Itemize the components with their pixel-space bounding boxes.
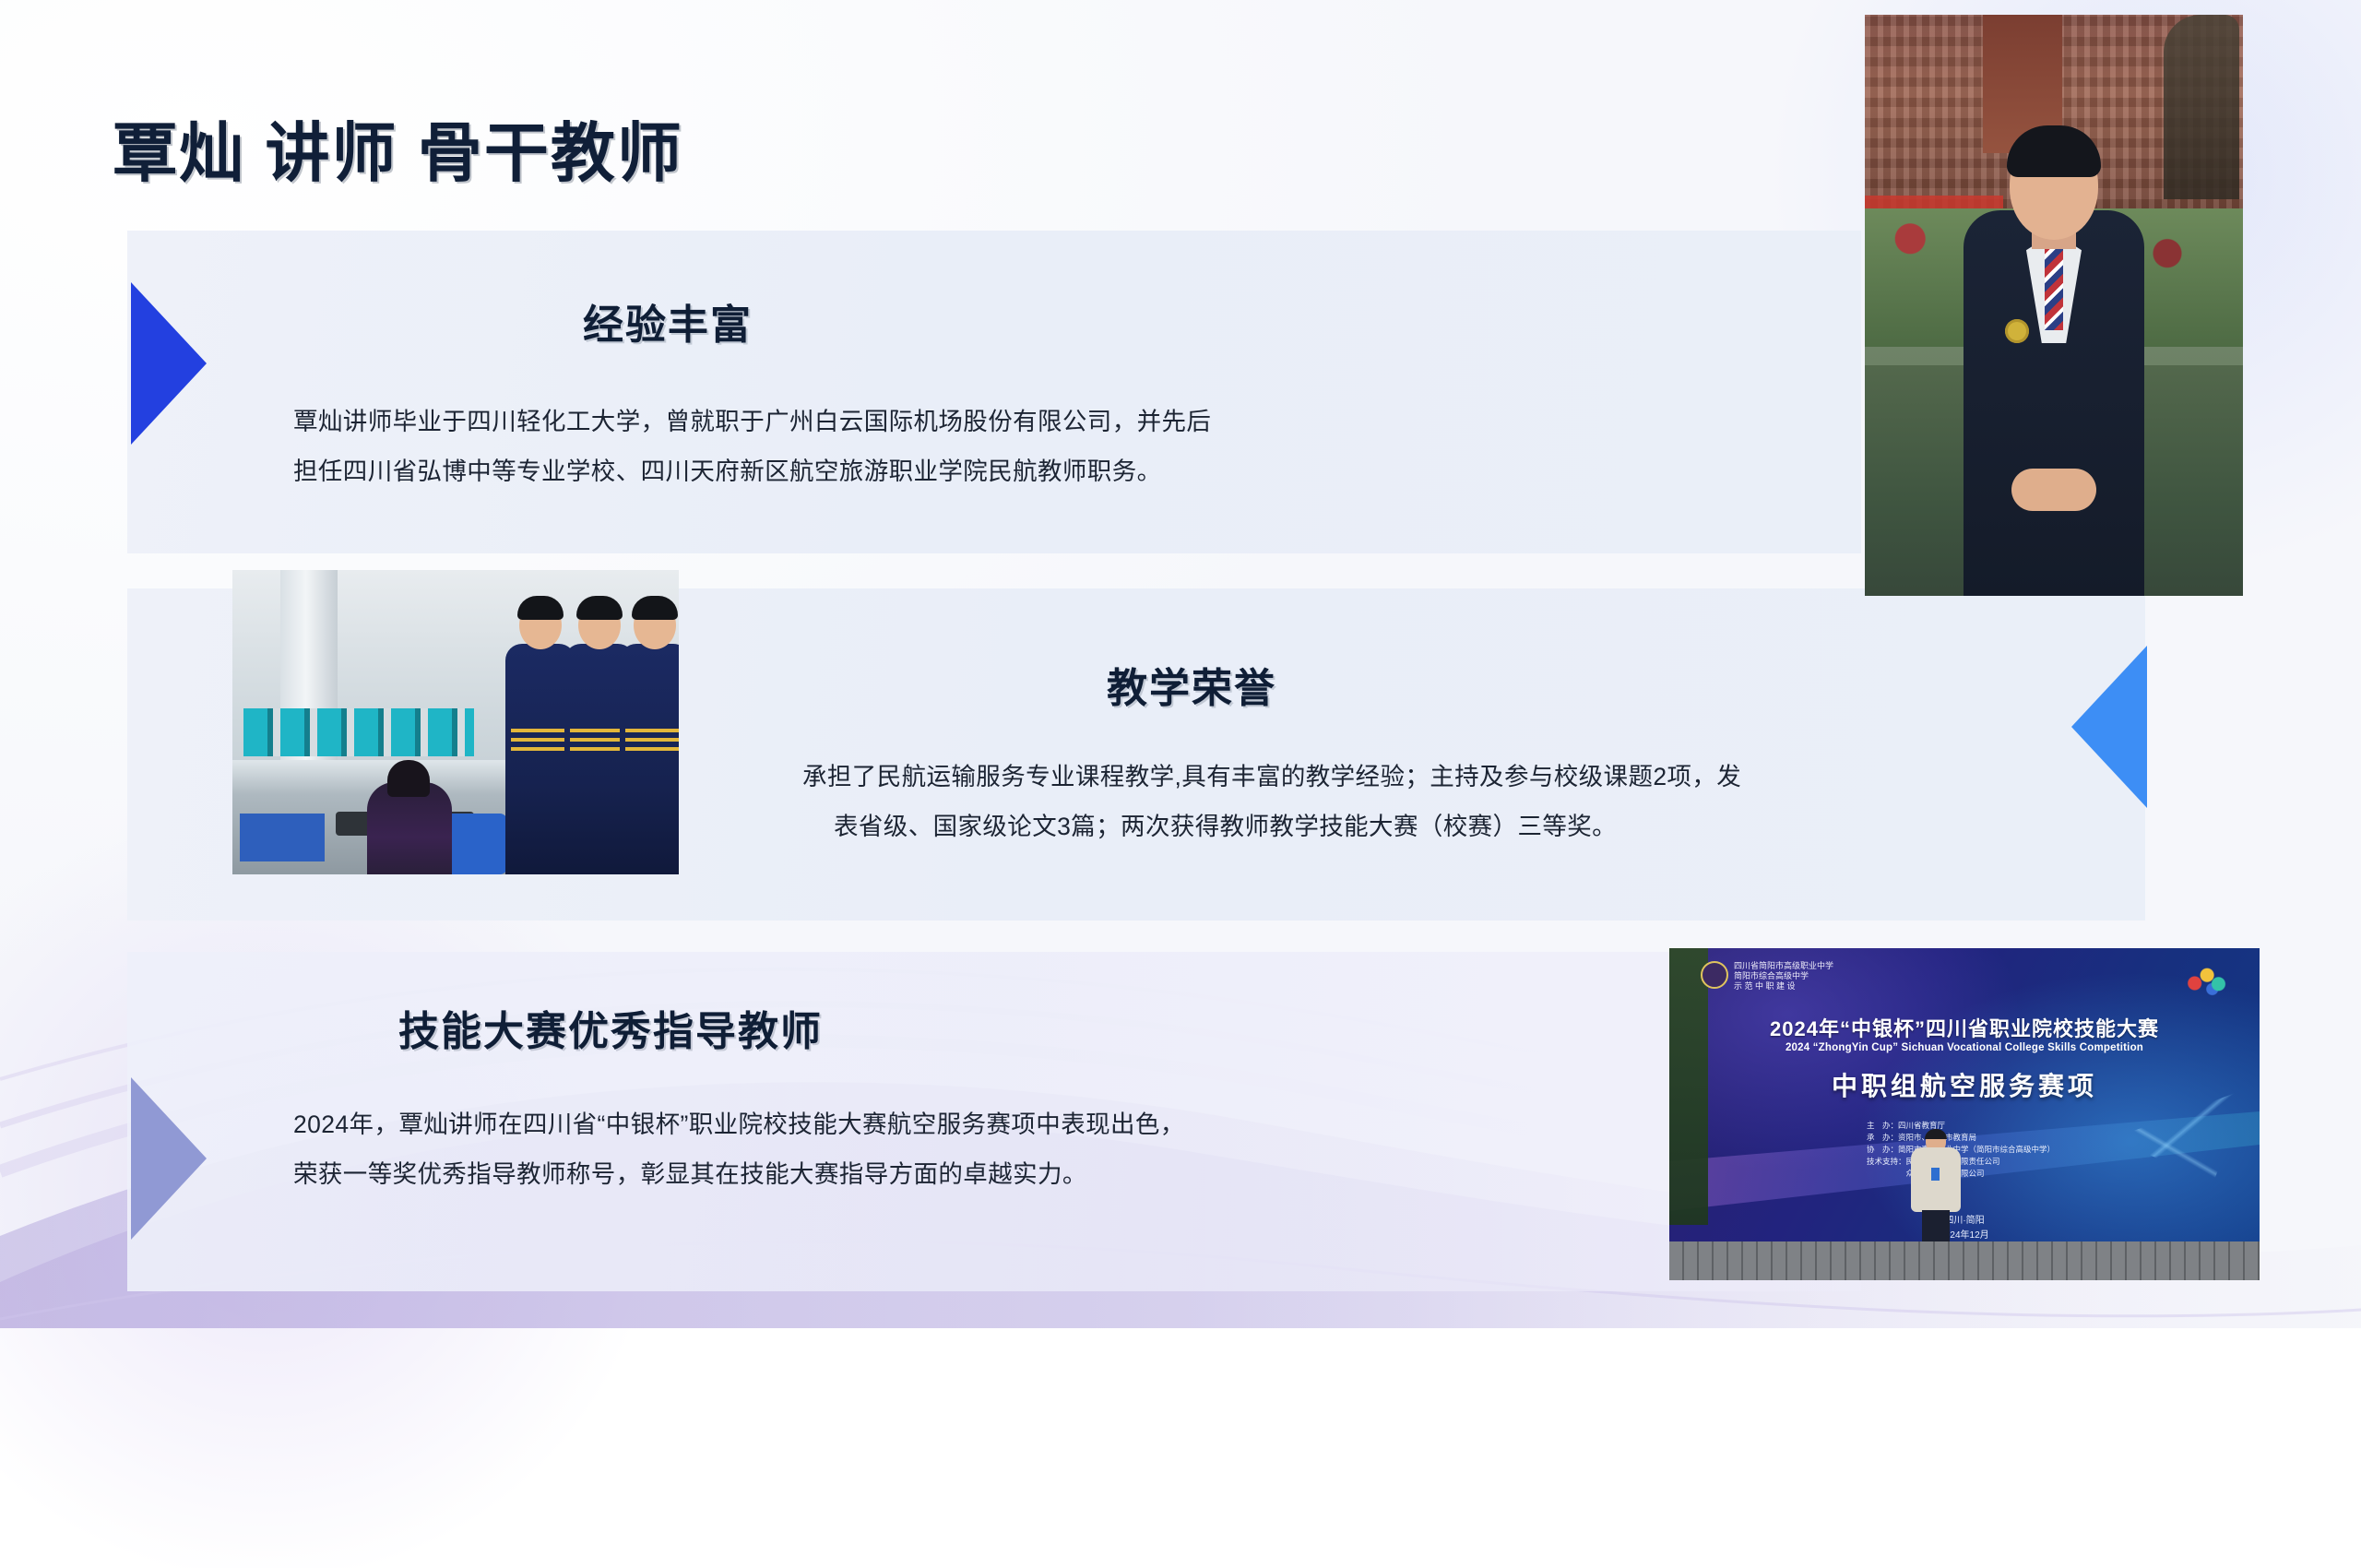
credit-line: 协 办：简阳市高级职业中学（简阳市综合高级中学）	[1867, 1144, 2055, 1156]
body-line: 表省级、国家级论文3篇；两次获得教师教学技能大赛（校赛）三等奖。	[834, 802, 1741, 851]
section-body-experience: 覃灿讲师毕业于四川轻化工大学，曾就职于广州白云国际机场股份有限公司，并先后 担任…	[293, 397, 1211, 496]
banner-title-en: 2024 “ZhongYin Cup” Sichuan Vocational C…	[1669, 1042, 2260, 1053]
body-line: 2024年，覃灿讲师在四川省“中银杯”职业院校技能大赛航空服务赛项中表现出色，	[293, 1099, 1185, 1149]
body-line: 承担了民航运输服务专业课程教学,具有丰富的教学经验；主持及参与校级课题2项，发	[802, 752, 1741, 802]
portrait-necktie	[2045, 245, 2063, 330]
section-body-teaching-honors: 承担了民航运输服务专业课程教学,具有丰富的教学经验；主持及参与校级课题2项，发 …	[802, 752, 1741, 851]
body-line: 覃灿讲师毕业于四川轻化工大学，曾就职于广州白云国际机场股份有限公司，并先后	[293, 397, 1211, 446]
banner-credits: 主 办：四川省教育厅 承 办：资阳市、成都市教育局 协 办：简阳市高级职业中学（…	[1867, 1120, 2055, 1180]
banner-title-cn: 2024年“中银杯”四川省职业院校技能大赛	[1669, 1013, 2260, 1042]
portrait-statue	[2164, 15, 2239, 199]
triangle-right-blue-icon	[131, 282, 207, 445]
page-title: 覃灿 讲师 骨干教师	[113, 101, 683, 195]
banner-location-date: 四川·简阳 2024年12月	[1669, 1214, 2260, 1243]
credit-line: 主 办：四川省教育厅	[1867, 1120, 2055, 1132]
body-line: 担任四川省弘博中等专业学校、四川天府新区航空旅游职业学院民航教师职务。	[293, 446, 1211, 496]
section-heading-experience: 经验丰富	[583, 291, 753, 350]
banner-subtitle-cn: 中职组航空服务赛项	[1669, 1066, 2260, 1103]
person-id-badge-icon	[1931, 1168, 1940, 1181]
section-heading-competition-mentor: 技能大赛优秀指导教师	[398, 998, 823, 1057]
section-body-competition-mentor: 2024年，覃灿讲师在四川省“中银杯”职业院校技能大赛航空服务赛项中表现出色， …	[293, 1099, 1185, 1199]
student-uniform-stripes	[625, 729, 679, 732]
classroom-training-photo	[232, 570, 679, 874]
school-crest-icon	[1701, 961, 1728, 989]
teacher-portrait-photo	[1865, 15, 2243, 596]
section-card-experience	[127, 231, 1861, 553]
classroom-blue-crate	[240, 814, 325, 861]
student-uniform-stripes	[511, 729, 570, 732]
classroom-seated-person	[367, 782, 452, 874]
classroom-student-3	[620, 644, 679, 874]
portrait-lapel-badge-icon	[2005, 319, 2029, 343]
competition-banner-photo: 四川省简阳市高级职业中学 简阳市综合高级中学 示 范 中 职 建 设 2024年…	[1669, 948, 2260, 1280]
section-heading-teaching-honors: 教学荣誉	[1107, 655, 1276, 714]
triangle-left-lightblue-icon	[2071, 646, 2147, 808]
banner-person	[1911, 1131, 1961, 1253]
portrait-hands	[2011, 469, 2096, 511]
competition-emblem-icon	[2180, 961, 2232, 998]
school-name-line-1: 四川省简阳市高级职业中学	[1734, 961, 1833, 971]
credit-line: 技术支持：民航西南凯亚有限责任公司	[1867, 1156, 2055, 1168]
school-name-line-2: 简阳市综合高级中学	[1734, 971, 1833, 981]
classroom-monitor-bank	[243, 708, 474, 756]
credit-line: 承 办：资阳市、成都市教育局	[1867, 1132, 2055, 1144]
school-name-line-3: 示 范 中 职 建 设	[1734, 981, 1833, 992]
triangle-right-lilac-icon	[131, 1077, 207, 1240]
banner-location: 四川·简阳	[1669, 1214, 2260, 1229]
banner-floor	[1669, 1241, 2260, 1280]
credit-line: 众合志通科技有限公司	[1867, 1168, 2055, 1180]
banner-school-name: 四川省简阳市高级职业中学 简阳市综合高级中学 示 范 中 职 建 设	[1734, 961, 1833, 992]
body-line: 荣获一等奖优秀指导教师称号，彰显其在技能大赛指导方面的卓越实力。	[293, 1149, 1185, 1199]
slide-canvas: 覃灿 讲师 骨干教师 经验丰富 覃灿讲师毕业于四川轻化工大学，曾就职于广州白云国…	[0, 0, 2361, 1328]
